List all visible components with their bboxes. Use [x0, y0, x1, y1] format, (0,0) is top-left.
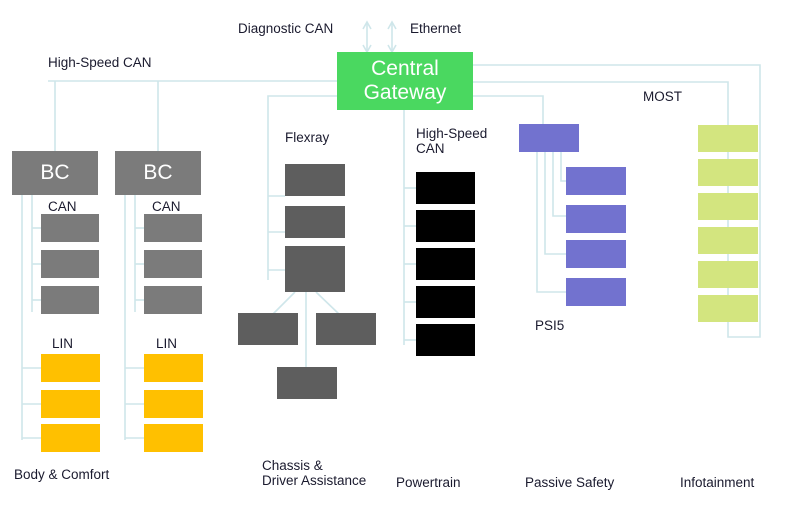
ethernet-label: Ethernet — [410, 21, 461, 36]
psi5-sensor[interactable] — [566, 278, 626, 306]
psi5-sensor[interactable] — [566, 167, 626, 195]
diagnostic-can-arrow — [363, 22, 371, 52]
most-node[interactable] — [698, 261, 758, 288]
flexray-label: Flexray — [285, 130, 329, 145]
flexray-sub-node[interactable] — [277, 367, 337, 399]
body-controller-1[interactable]: BC — [12, 151, 98, 195]
central-gateway[interactable]: Central Gateway — [337, 52, 473, 110]
powertrain-node[interactable] — [416, 248, 475, 280]
diagnostic-can-label: Diagnostic CAN — [238, 21, 333, 36]
flexray-sub-node[interactable] — [238, 313, 298, 345]
body-controller-2[interactable]: BC — [115, 151, 201, 195]
lin-node[interactable] — [41, 424, 100, 452]
airbag-ecu[interactable] — [519, 124, 579, 152]
lin-node[interactable] — [41, 354, 100, 382]
most-node[interactable] — [698, 227, 758, 254]
psi5-sensor[interactable] — [566, 240, 626, 268]
domain-label-infotainment: Infotainment — [680, 475, 754, 490]
powertrain-node[interactable] — [416, 172, 475, 204]
ethernet-arrow — [388, 22, 396, 52]
can-label-right: CAN — [152, 199, 181, 214]
most-label: MOST — [643, 89, 682, 104]
can-node[interactable] — [41, 286, 99, 314]
powertrain-can-label: High-Speed CAN — [416, 126, 487, 156]
lin-node[interactable] — [41, 390, 100, 418]
psi5-label: PSI5 — [535, 318, 564, 333]
domain-label-chassis: Chassis & Driver Assistance — [262, 458, 366, 488]
lin-node[interactable] — [144, 424, 203, 452]
can-node[interactable] — [144, 250, 202, 278]
most-node[interactable] — [698, 295, 758, 322]
most-node[interactable] — [698, 159, 758, 186]
powertrain-node[interactable] — [416, 324, 475, 356]
flexray-node[interactable] — [285, 164, 345, 196]
psi5-sensor[interactable] — [566, 205, 626, 233]
can-node[interactable] — [41, 250, 99, 278]
architecture-diagram: Diagnostic CAN Ethernet Central Gateway … — [0, 0, 785, 517]
flexray-sub-node[interactable] — [316, 313, 376, 345]
flexray-node[interactable] — [285, 206, 345, 238]
lin-node[interactable] — [144, 354, 203, 382]
can-node[interactable] — [144, 286, 202, 314]
powertrain-node[interactable] — [416, 286, 475, 318]
most-node[interactable] — [698, 193, 758, 220]
lin-label-left: LIN — [52, 336, 73, 351]
domain-label-body-comfort: Body & Comfort — [14, 467, 109, 482]
can-label-left: CAN — [48, 199, 77, 214]
domain-label-powertrain: Powertrain — [396, 475, 461, 490]
lin-node[interactable] — [144, 390, 203, 418]
domain-label-passive-safety: Passive Safety — [525, 475, 614, 490]
high-speed-can-label: High-Speed CAN — [48, 55, 152, 70]
powertrain-node[interactable] — [416, 210, 475, 242]
lin-label-right: LIN — [156, 336, 177, 351]
most-node[interactable] — [698, 125, 758, 152]
can-node[interactable] — [41, 214, 99, 242]
flexray-node[interactable] — [285, 246, 345, 292]
can-node[interactable] — [144, 214, 202, 242]
